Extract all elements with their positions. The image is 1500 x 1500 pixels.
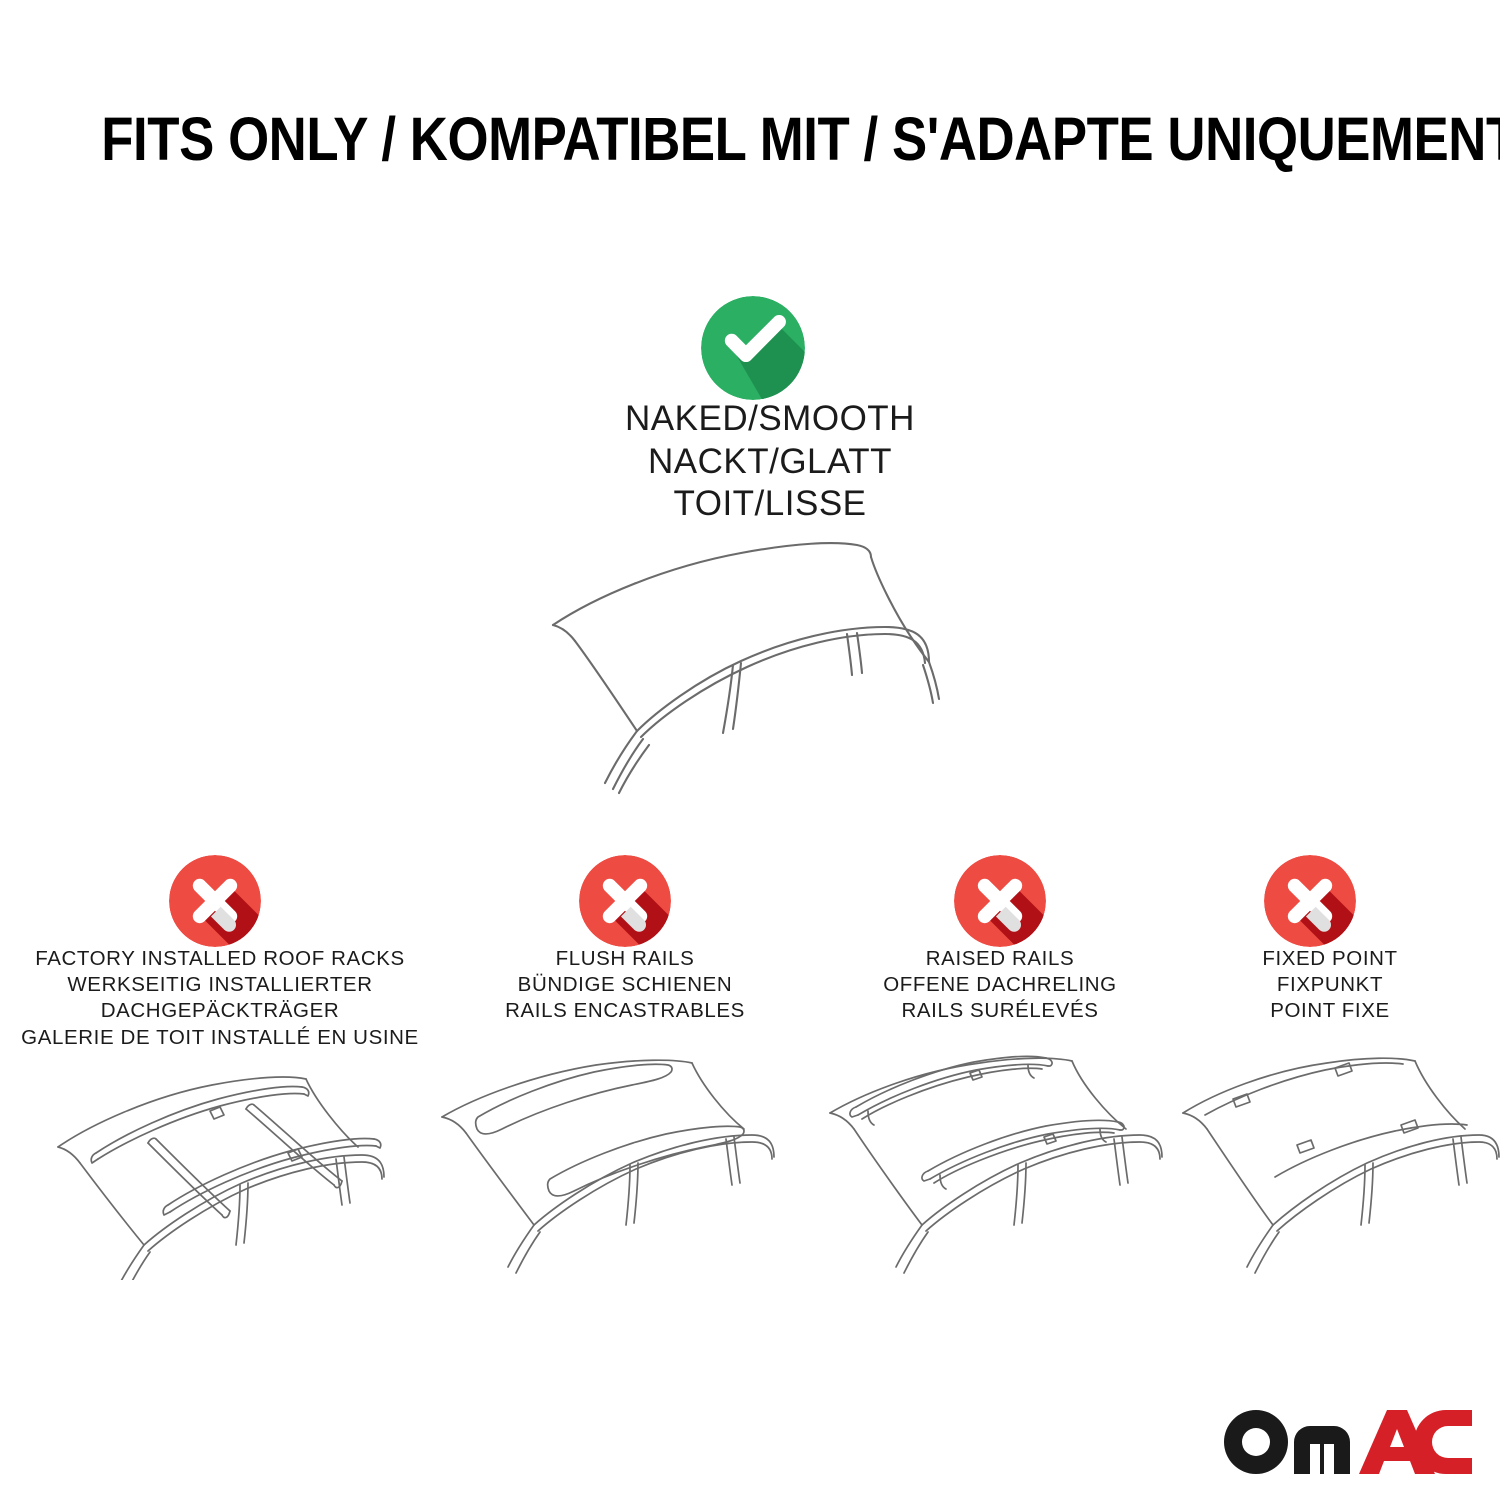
incompatible-label-factory-roof-racks: FACTORY INSTALLED ROOF RACKS WERKSEITIG … [20, 946, 420, 1051]
page-title: FITS ONLY / KOMPATIBEL MIT / S'ADAPTE UN… [101, 104, 1399, 174]
incompatible-label-raised-rails: RAISED RAILS OFFENE DACHRELING RAILS SUR… [820, 946, 1180, 1025]
incompatible-label-flush-rails: FLUSH RAILS BÜNDIGE SCHIENEN RAILS ENCAS… [430, 946, 820, 1025]
label-line-fr: RAILS ENCASTRABLES [430, 998, 820, 1024]
car-roof-raised-rails-illustration [822, 1055, 1222, 1280]
label-line-de: OFFENE DACHRELING [820, 972, 1180, 998]
car-roof-flush-rails-illustration [432, 1055, 832, 1280]
label-line-de: WERKSEITIG INSTALLIERTER DACHGEPÄCKTRÄGE… [20, 972, 420, 1024]
label-line-fr: POINT FIXE [1160, 998, 1500, 1024]
label-line-fr: RAILS SURÉLEVÉS [820, 998, 1180, 1024]
omac-logo [1222, 1408, 1474, 1476]
compatibility-chart-page: FITS ONLY / KOMPATIBEL MIT / S'ADAPTE UN… [0, 0, 1500, 1500]
label-line-en: FIXED POINT [1160, 946, 1500, 972]
check-circle-icon [701, 296, 805, 400]
cross-circle-icon [1264, 855, 1356, 947]
car-roof-factory-roof-racks-illustration [40, 1055, 440, 1280]
compatible-label-line-de: NACKT/GLATT [520, 441, 1020, 484]
car-roof-naked-smooth-illustration [505, 515, 1015, 805]
label-line-en: FLUSH RAILS [430, 946, 820, 972]
cross-circle-icon [954, 855, 1046, 947]
label-line-en: FACTORY INSTALLED ROOF RACKS [20, 946, 420, 972]
incompatible-label-fixed-point: FIXED POINT FIXPUNKT POINT FIXE [1160, 946, 1500, 1025]
car-roof-fixed-point-illustration [1175, 1055, 1500, 1280]
label-line-de: FIXPUNKT [1160, 972, 1500, 998]
label-line-fr: GALERIE DE TOIT INSTALLÉ EN USINE [20, 1025, 420, 1051]
label-line-de: BÜNDIGE SCHIENEN [430, 972, 820, 998]
compatible-label-line-en: NAKED/SMOOTH [520, 398, 1020, 441]
cross-circle-icon [169, 855, 261, 947]
compatible-label: NAKED/SMOOTH NACKT/GLATT TOIT/LISSE [520, 398, 1020, 526]
label-line-en: RAISED RAILS [820, 946, 1180, 972]
cross-circle-icon [579, 855, 671, 947]
